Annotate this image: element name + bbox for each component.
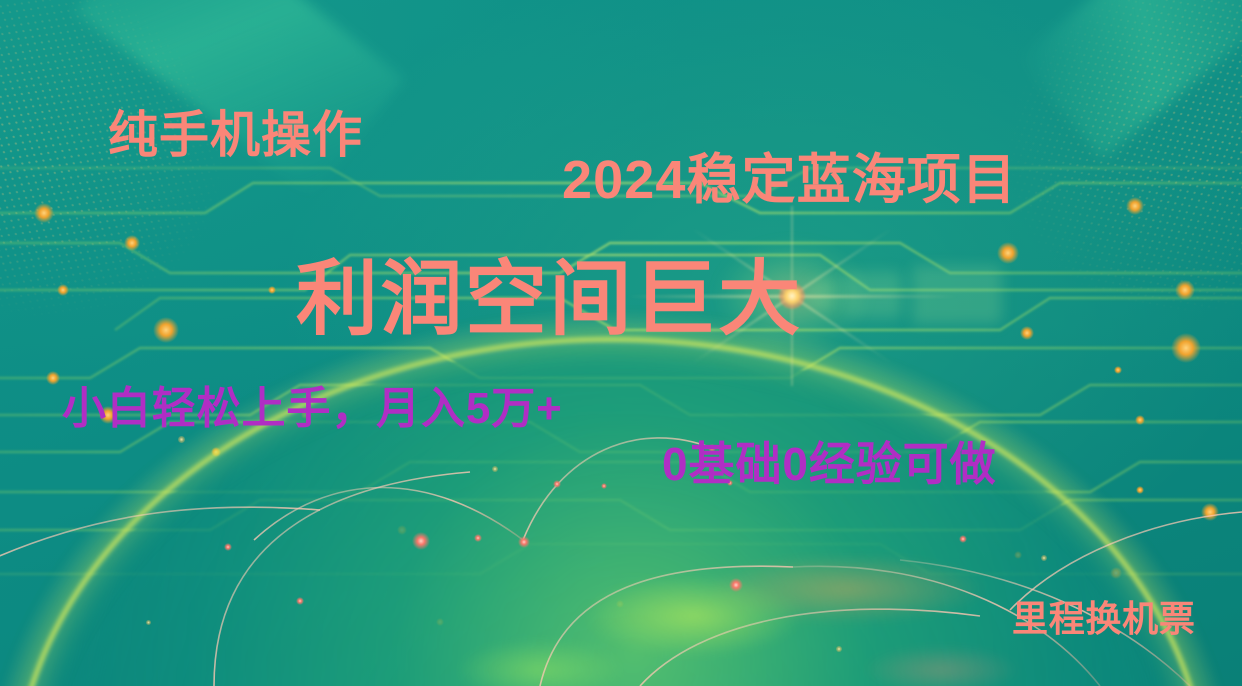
headline-miles-ticket: 里程换机票	[1012, 590, 1196, 642]
headline-zero-base: 0基础0经验可做	[662, 428, 997, 494]
promo-banner: 纯手机操作 2024稳定蓝海项目 利润空间巨大 小白轻松上手，月入5万+ 0基础…	[0, 0, 1242, 686]
sparkle-dot	[146, 620, 151, 625]
headline-pure-mobile: 纯手机操作	[108, 95, 363, 167]
sparkle-dot	[178, 436, 185, 443]
headline-year-project: 2024稳定蓝海项目	[562, 135, 1017, 214]
headline-profit: 利润空间巨大	[296, 232, 803, 351]
sparkle-dot	[836, 646, 842, 652]
sparkle-dot	[1041, 555, 1047, 561]
headline-easy-start: 小白轻松上手，月入5万+	[62, 372, 563, 436]
sparkle-dot	[492, 466, 498, 472]
